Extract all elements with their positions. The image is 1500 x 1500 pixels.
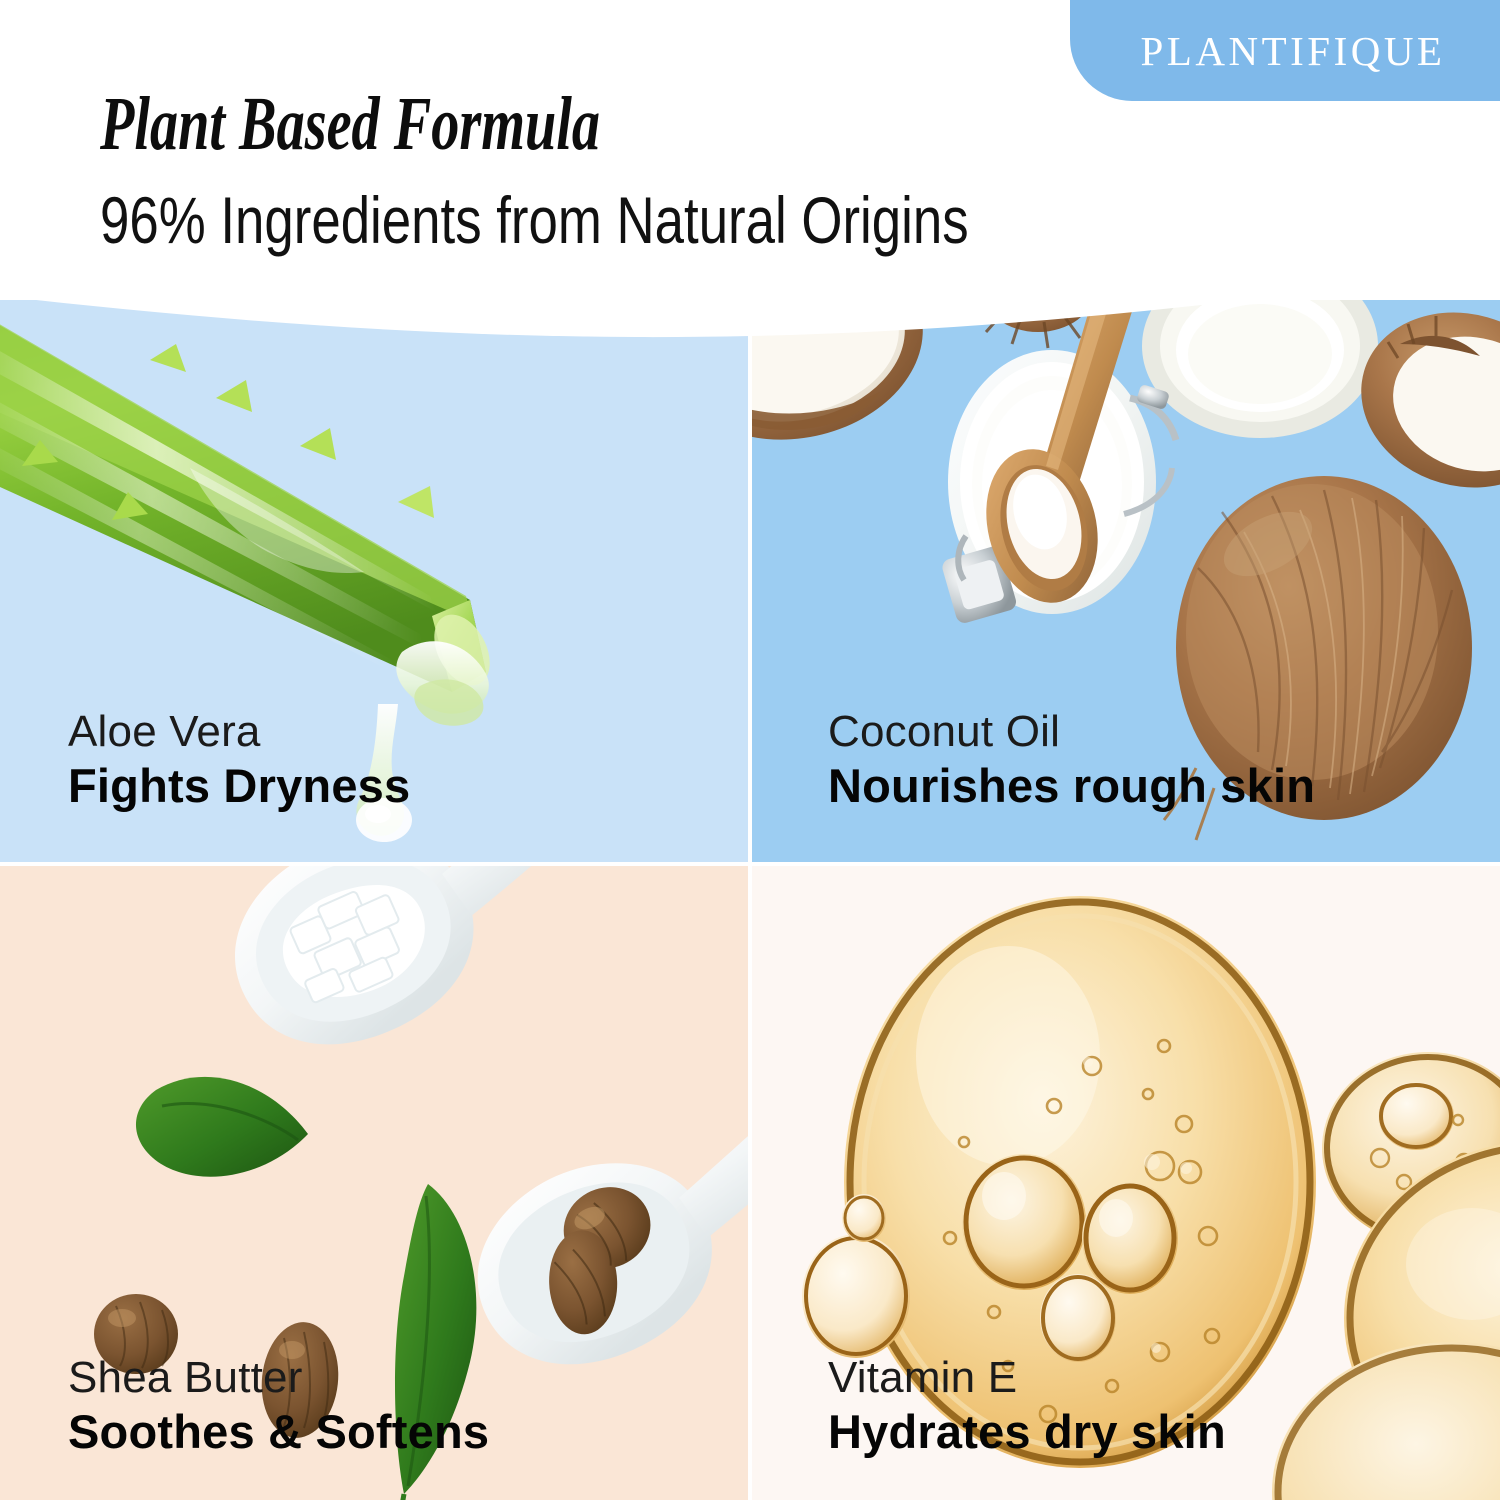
ingredient-benefit: Fights Dryness — [68, 758, 410, 813]
caption-aloe-vera: Aloe Vera Fights Dryness — [68, 706, 410, 813]
page-subtitle: 96% Ingredients from Natural Origins — [100, 164, 969, 255]
caption-vitamin-e: Vitamin E Hydrates dry skin — [828, 1352, 1226, 1459]
ingredient-name: Coconut Oil — [828, 706, 1315, 758]
ingredient-name: Shea Butter — [68, 1352, 489, 1404]
infographic-canvas: Aloe Vera Fights Dryness — [0, 0, 1500, 1500]
caption-coconut-oil: Coconut Oil Nourishes rough skin — [828, 706, 1315, 813]
header-text-block: Plant Based Formula 96% Ingredients from… — [100, 86, 1186, 255]
ingredient-benefit: Hydrates dry skin — [828, 1404, 1226, 1459]
ingredient-name: Vitamin E — [828, 1352, 1226, 1404]
caption-shea-butter: Shea Butter Soothes & Softens — [68, 1352, 489, 1459]
ingredient-benefit: Soothes & Softens — [68, 1404, 489, 1459]
page-title: Plant Based Formula — [100, 86, 904, 164]
brand-name: PLANTIFIQUE — [1125, 27, 1446, 75]
ingredient-benefit: Nourishes rough skin — [828, 758, 1315, 813]
ingredient-name: Aloe Vera — [68, 706, 410, 758]
